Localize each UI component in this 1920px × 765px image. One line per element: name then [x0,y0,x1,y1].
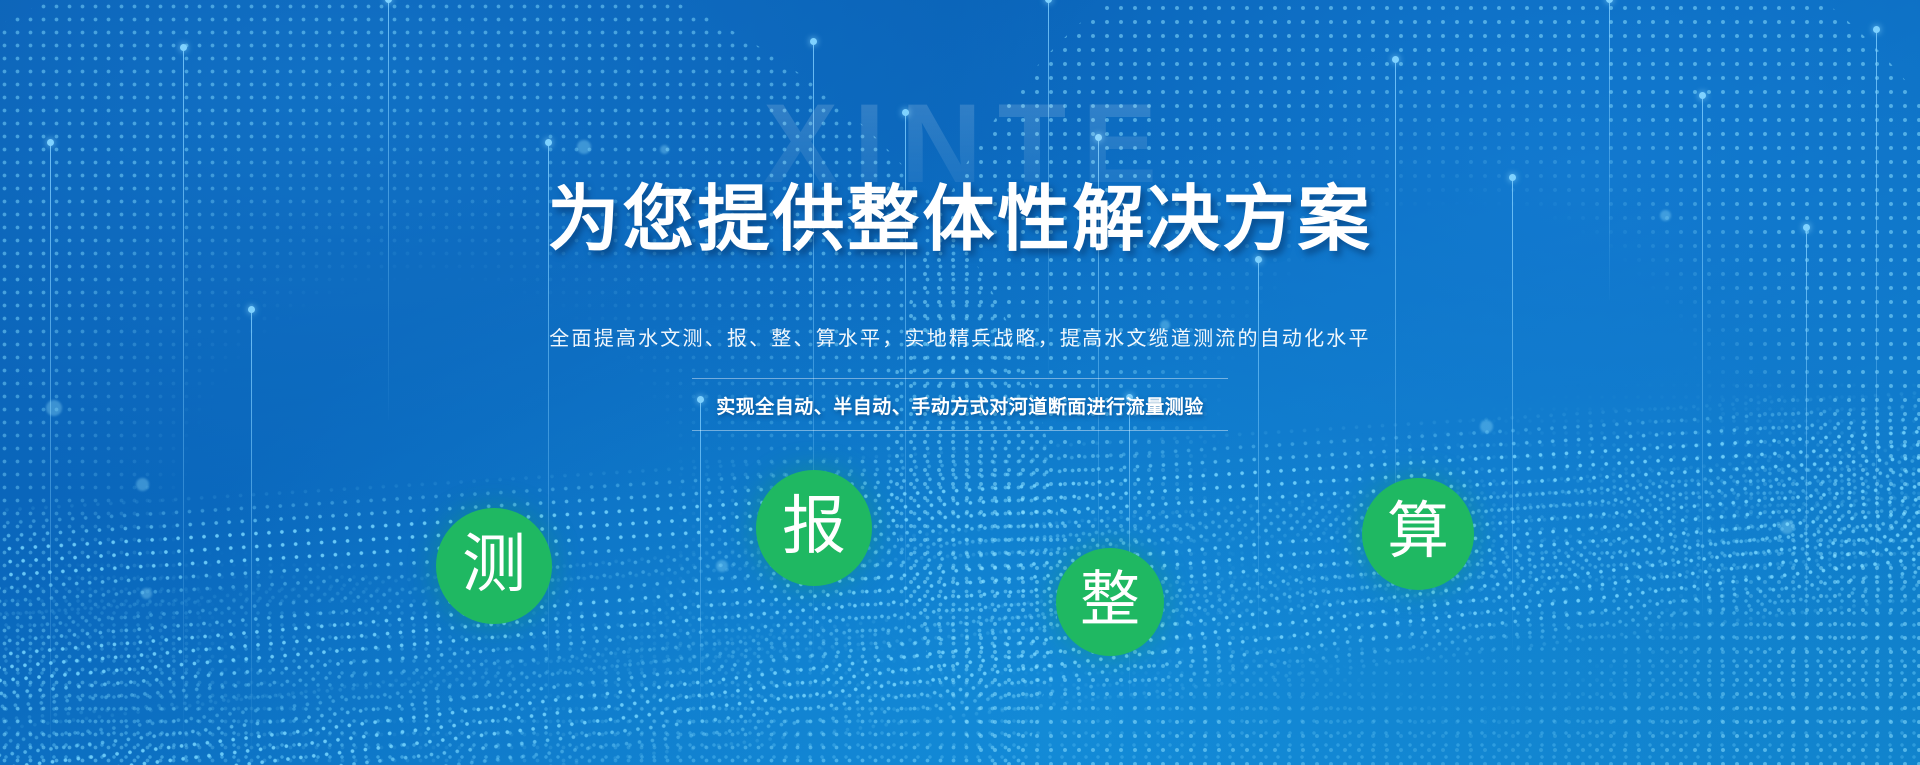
tagline-box: 实现全自动、半自动、手动方式对河道断面进行流量测验 [692,378,1228,431]
circle-suan[interactable]: 算 [1362,478,1474,590]
page-title: 为您提供整体性解决方案 [0,184,1920,256]
circle-bao-label: 报 [782,494,846,558]
circle-zheng[interactable]: 整 [1056,548,1164,656]
circle-zheng-label: 整 [1080,570,1140,630]
banner-subtitle: 全面提高水文测、报、整、算水平，实地精兵战略，提高水文缆道测流的自动化水平 [0,322,1920,351]
hero-banner: XINTE 为您提供整体性解决方案 全面提高水文测、报、整、算水平，实地精兵战略… [0,0,1920,765]
circle-ce-label: 测 [462,532,526,596]
tagline-container: 实现全自动、半自动、手动方式对河道断面进行流量测验 [0,378,1920,431]
circle-bao[interactable]: 报 [756,470,872,586]
tagline-text: 实现全自动、半自动、手动方式对河道断面进行流量测验 [716,397,1204,418]
circle-ce[interactable]: 测 [436,508,552,624]
circle-suan-label: 算 [1387,501,1449,563]
banner-content: XINTE 为您提供整体性解决方案 全面提高水文测、报、整、算水平，实地精兵战略… [0,0,1920,765]
